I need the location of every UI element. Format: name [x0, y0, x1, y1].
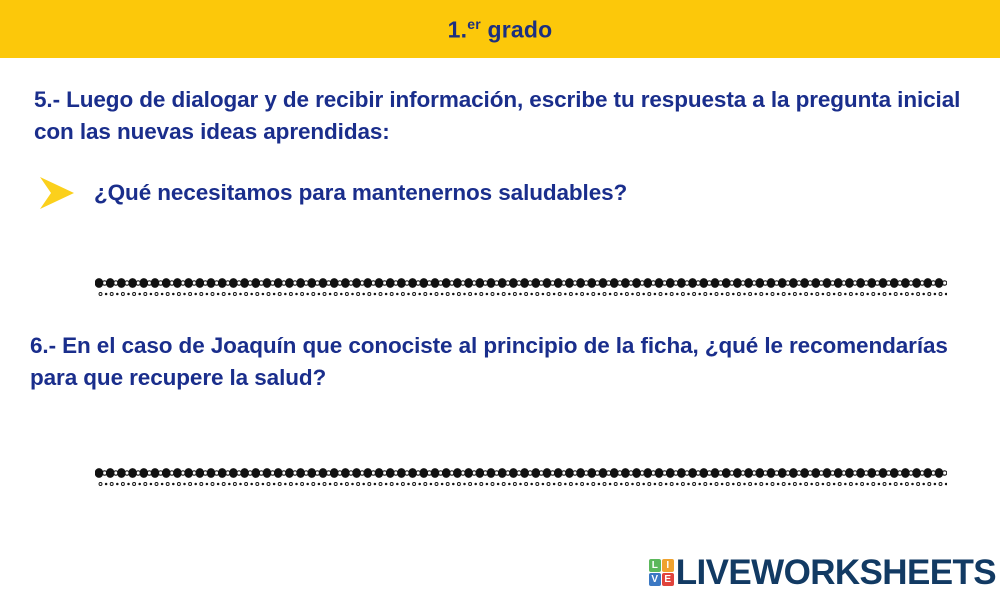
logo-wordmark: LIVEWORKSHEETS: [676, 555, 996, 590]
grade-ordinal-suffix: er: [467, 16, 481, 32]
logo-tile-v: V: [649, 573, 661, 586]
question-5-text: 5.- Luego de dialogar y de recibir infor…: [34, 84, 974, 148]
logo-tile-i: I: [662, 559, 674, 572]
subquestion-row: ¿Qué necesitamos para mantenernos saluda…: [34, 170, 934, 216]
worksheet-body: 5.- Luego de dialogar y de recibir infor…: [0, 58, 1000, 594]
logo-tile-l: L: [649, 559, 661, 572]
page-title: 1.er grado: [448, 17, 553, 42]
grade-number: 1.: [448, 16, 468, 42]
logo-tile-e: E: [662, 573, 674, 586]
answer-line-question-6[interactable]: [95, 464, 947, 490]
answer-line-question-5[interactable]: [95, 274, 947, 300]
logo-tiles: L I V E: [649, 559, 674, 586]
question-6-text: 6.- En el caso de Joaquín que conociste …: [30, 330, 970, 394]
liveworksheets-logo[interactable]: L I V E LIVEWORKSHEETS: [649, 555, 996, 590]
yellow-chevron-arrow-icon: [34, 170, 80, 216]
grade-header-bar: 1.er grado: [0, 0, 1000, 58]
subquestion-5-text: ¿Qué necesitamos para mantenernos saluda…: [94, 178, 627, 207]
grade-word: grado: [487, 16, 552, 42]
